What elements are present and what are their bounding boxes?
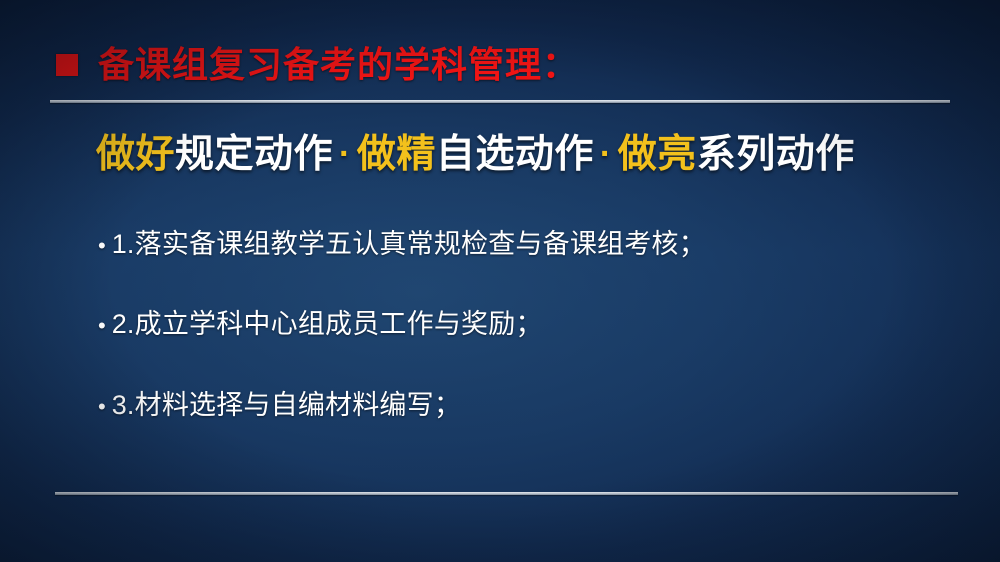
bullet-dot-icon: • bbox=[98, 394, 106, 420]
list-item-label: 1.落实备课组教学五认真常规检查与备课组考核； bbox=[112, 228, 706, 260]
title-square-bullet-icon bbox=[56, 54, 78, 76]
subtitle-segment-3-emphasis: 做亮 bbox=[618, 133, 697, 176]
bullet-dot-icon: • bbox=[98, 233, 106, 259]
subtitle-segment-2-emphasis: 做精 bbox=[357, 133, 436, 176]
subtitle-segment-1-text: 规定动作 bbox=[175, 133, 333, 176]
subtitle-separator-1: · bbox=[333, 135, 357, 173]
page-title: 备课组复习备考的学科管理： bbox=[98, 47, 579, 83]
list-item-label: 3.材料选择与自编材料编写； bbox=[112, 389, 461, 421]
list-item-label: 2.成立学科中心组成员工作与奖励； bbox=[112, 308, 543, 340]
bullet-list: • 1.落实备课组教学五认真常规检查与备课组考核； • 2.成立学科中心组成员工… bbox=[98, 228, 938, 421]
list-item: • 1.落实备课组教学五认真常规检查与备课组考核； bbox=[98, 228, 938, 260]
divider-top bbox=[50, 100, 950, 103]
subtitle-segment-2-text: 自选动作 bbox=[436, 133, 594, 176]
slide-subtitle: 做好规定动作·做精自选动作·做亮系列动作 bbox=[96, 133, 855, 178]
list-item: • 3.材料选择与自编材料编写； bbox=[98, 389, 938, 421]
subtitle-segment-3-text: 系列动作 bbox=[697, 133, 855, 176]
slide-title-row: 备课组复习备考的学科管理： bbox=[56, 42, 579, 88]
subtitle-segment-1-emphasis: 做好 bbox=[96, 133, 175, 176]
presentation-slide: 备课组复习备考的学科管理： 做好规定动作·做精自选动作·做亮系列动作 • 1.落… bbox=[0, 0, 1000, 562]
divider-bottom bbox=[55, 492, 958, 495]
list-item: • 2.成立学科中心组成员工作与奖励； bbox=[98, 308, 938, 340]
subtitle-separator-2: · bbox=[594, 135, 618, 173]
bullet-dot-icon: • bbox=[98, 313, 106, 339]
